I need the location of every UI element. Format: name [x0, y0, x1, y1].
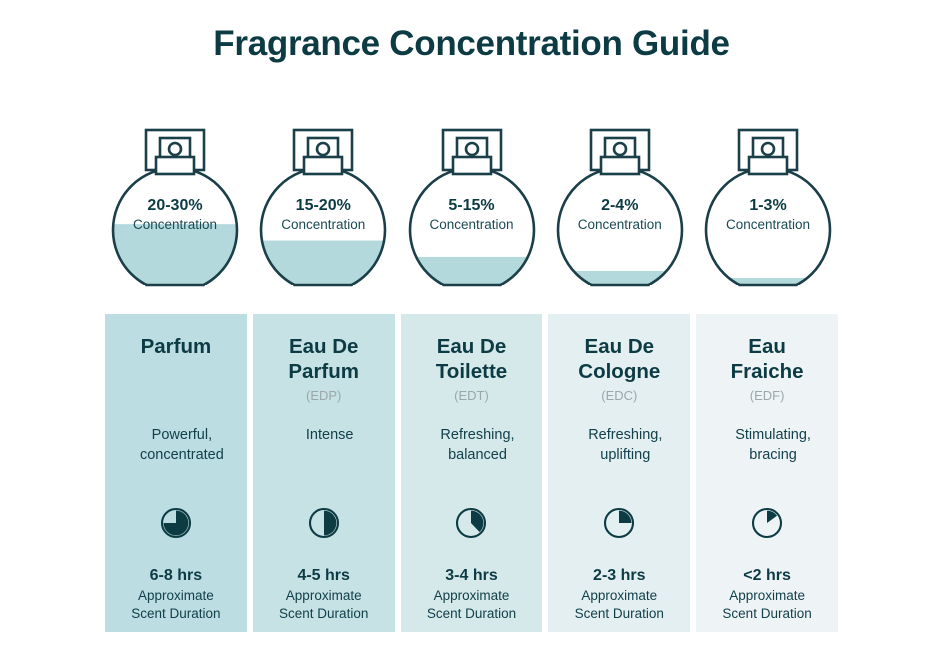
duration-note: ApproximateScent Duration	[548, 587, 690, 623]
duration-hours: 4-5 hrs	[253, 566, 395, 587]
card-row: ParfumPowerful,concentrated6-8 hrsApprox…	[105, 314, 838, 632]
card-title: Eau DeParfum	[282, 334, 365, 384]
card-description: Stimulating,bracing	[696, 426, 850, 465]
duration-note: ApproximateScent Duration	[401, 587, 543, 623]
duration-pie-icon	[253, 506, 395, 540]
bottle-row: 20-30%Concentration15-20%Concentration5-…	[105, 124, 838, 304]
card-abbreviation: (EDC)	[601, 388, 637, 405]
bottle-edt: 5-15%Concentration	[402, 124, 542, 304]
card-duration: 6-8 hrsApproximateScent Duration	[105, 566, 247, 622]
duration-pie-icon	[105, 506, 247, 540]
duration-note: ApproximateScent Duration	[253, 587, 395, 623]
duration-pie-icon	[548, 506, 690, 540]
card-duration: 2-3 hrsApproximateScent Duration	[548, 566, 690, 622]
card-duration: 4-5 hrsApproximateScent Duration	[253, 566, 395, 622]
card-title: Parfum	[135, 334, 218, 359]
card-description: Refreshing,balanced	[401, 426, 555, 465]
card-eau-de-parfum[interactable]: Eau DeParfum(EDP)Intense4-5 hrsApproxima…	[253, 314, 395, 632]
bottle-edp: 15-20%Concentration	[253, 124, 393, 304]
card-abbreviation: (EDP)	[306, 388, 341, 405]
card-title: Eau DeToilette	[430, 334, 513, 384]
card-eau-de-toilette[interactable]: Eau DeToilette(EDT)Refreshing,balanced3-…	[401, 314, 543, 632]
page-title: Fragrance Concentration Guide	[0, 24, 943, 64]
card-duration: <2 hrsApproximateScent Duration	[696, 566, 838, 622]
card-description: Powerful,concentrated	[105, 426, 259, 465]
duration-hours: 3-4 hrs	[401, 566, 543, 587]
duration-pie-icon	[401, 506, 543, 540]
card-title: EauFraiche	[725, 334, 810, 384]
duration-hours: 6-8 hrs	[105, 566, 247, 587]
card-duration: 3-4 hrsApproximateScent Duration	[401, 566, 543, 622]
bottle-edc: 2-4%Concentration	[550, 124, 690, 304]
bottle-parfum: 20-30%Concentration	[105, 124, 245, 304]
card-description: Intense	[253, 426, 407, 446]
duration-note: ApproximateScent Duration	[696, 587, 838, 623]
card-abbreviation: (EDT)	[454, 388, 489, 405]
duration-note: ApproximateScent Duration	[105, 587, 247, 623]
bottle-edf: 1-3%Concentration	[698, 124, 838, 304]
card-abbreviation: (EDF)	[750, 388, 785, 405]
card-description: Refreshing,uplifting	[548, 426, 702, 465]
duration-hours: <2 hrs	[696, 566, 838, 587]
card-title: Eau DeCologne	[572, 334, 666, 384]
duration-pie-icon	[696, 506, 838, 540]
card-parfum[interactable]: ParfumPowerful,concentrated6-8 hrsApprox…	[105, 314, 247, 632]
duration-hours: 2-3 hrs	[548, 566, 690, 587]
card-eau-de-cologne[interactable]: Eau DeCologne(EDC)Refreshing,uplifting2-…	[548, 314, 690, 632]
card-eau-fraiche[interactable]: EauFraiche(EDF)Stimulating,bracing<2 hrs…	[696, 314, 838, 632]
